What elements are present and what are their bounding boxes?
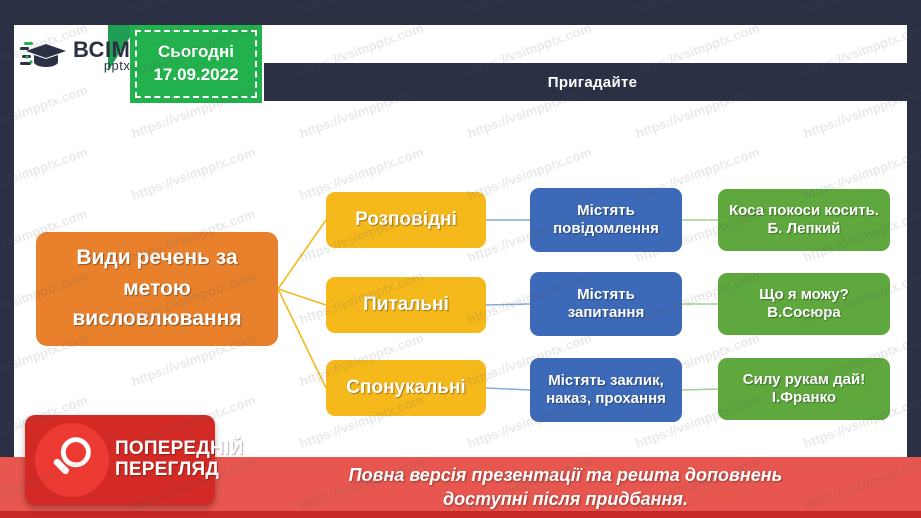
sentence-example-node-2: Силу рукам дай! І.Франко: [718, 358, 890, 420]
watermark-text: https://vsimpptx.com: [633, 0, 761, 17]
sentence-type-node-0: Розповідні: [326, 192, 486, 248]
watermark-text: https://vsimpptx.com: [465, 0, 593, 17]
sentence-example-node-1: Що я можу? В.Сосюра: [718, 273, 890, 335]
sentence-example-node-0: Коса покоси косить. Б. Лепкий: [718, 189, 890, 251]
logo-subtext: pptx: [73, 60, 130, 72]
preview-badge[interactable]: ПОПЕРЕДНІЙ ПЕРЕГЛЯД: [25, 415, 215, 505]
preview-badge-line1: ПОПЕРЕДНІЙ: [115, 439, 243, 460]
purchase-notice-line1: Повна версія презентації та решта доповн…: [349, 464, 783, 487]
logo-wordmark: ВСІМ: [73, 40, 130, 60]
header-title-bar: Пригадайте: [264, 63, 907, 101]
sentence-type-node-1: Питальні: [326, 277, 486, 333]
slide: ВСІМ pptx Сьогодні 17.09.2022 Пригадайте: [0, 0, 921, 518]
graduation-cap-icon: [20, 38, 68, 74]
purchase-notice-line2: доступні після придбання.: [349, 488, 783, 511]
date-badge-value: 17.09.2022: [153, 64, 238, 87]
preview-badge-line2: ПЕРЕГЛЯД: [115, 460, 243, 481]
watermark-text: https://vsimpptx.com: [129, 0, 257, 17]
sentence-type-node-2: Спонукальні: [326, 360, 486, 416]
diagram: Види речень за метою висловлювання Розпо…: [14, 110, 907, 440]
watermark-text: https://vsimpptx.com: [297, 0, 425, 17]
watermark-text: https://vsimpptx.com: [801, 0, 921, 17]
diagram-root-node: Види речень за метою висловлювання: [36, 232, 278, 346]
date-badge: Сьогодні 17.09.2022: [130, 25, 262, 103]
brand-logo: ВСІМ pptx: [14, 30, 132, 82]
date-badge-label: Сьогодні: [158, 41, 234, 64]
magnifier-icon: [35, 423, 109, 497]
sentence-contains-node-0: Містять повідомлення: [530, 188, 682, 252]
sentence-contains-node-2: Містять заклик, наказ, прохання: [530, 358, 682, 422]
watermark-text: https://vsimpptx.com: [0, 0, 89, 17]
sentence-contains-node-1: Містять запитання: [530, 272, 682, 336]
page-title: Пригадайте: [548, 74, 638, 91]
